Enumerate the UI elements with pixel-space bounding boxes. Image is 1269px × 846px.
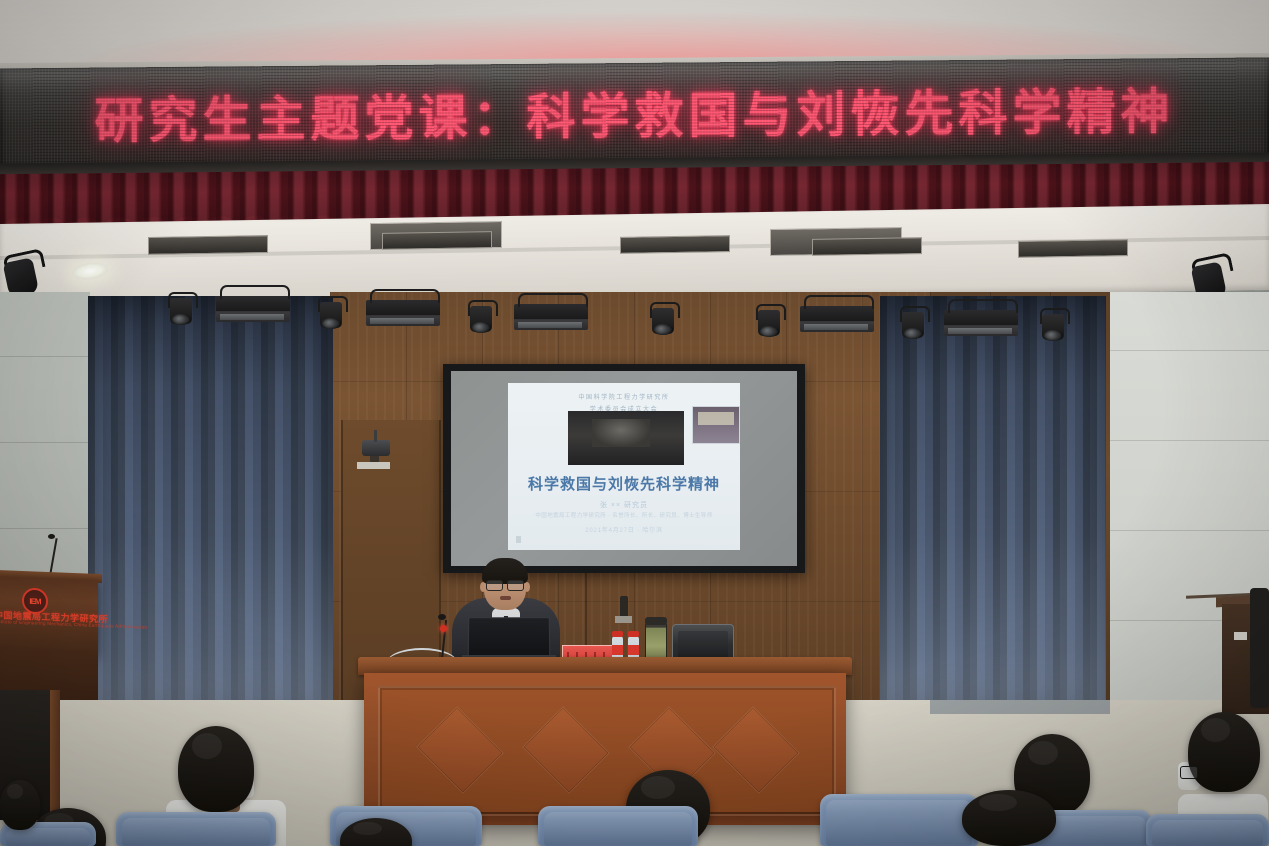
audience-chair-5[interactable]	[820, 794, 978, 846]
microphone-indicator-light	[440, 625, 447, 632]
door-plate-center	[615, 616, 632, 623]
iem-logo-text: IEM	[29, 596, 40, 605]
ceiling-speaker-1	[148, 235, 268, 255]
ceiling-speaker-4	[812, 237, 922, 256]
laptop-screen[interactable]	[468, 617, 551, 659]
ceiling-speaker-2	[382, 231, 492, 250]
desk-diamond-4	[713, 707, 798, 792]
ceiling-speaker-5	[1018, 239, 1128, 258]
par-can-light-3	[468, 300, 494, 332]
podium-microphone-head	[48, 534, 55, 539]
desk-diamond-2	[523, 707, 608, 792]
slide-group-photo	[568, 411, 684, 465]
ceiling-speaker-3	[620, 235, 730, 254]
audience-head-1	[178, 726, 254, 812]
flood-light-5	[944, 310, 1018, 336]
audience-chair-4[interactable]	[538, 806, 698, 846]
door-handle-center[interactable]	[620, 596, 628, 618]
ceiling-projector	[362, 440, 390, 456]
right-cabinet-label	[1234, 632, 1247, 640]
par-can-light-4	[650, 302, 676, 334]
par-can-light-1	[168, 292, 194, 324]
slide-corner-mark	[516, 536, 521, 543]
flood-light-4	[800, 306, 874, 332]
par-can-light-7	[1040, 308, 1066, 340]
slide-presenter: 张 ×× 研究员	[508, 500, 740, 510]
floor-curtain-hem	[930, 700, 1110, 714]
speaker-mouth	[500, 596, 511, 600]
audience-chair-1[interactable]	[116, 812, 276, 846]
door-plate-left	[357, 462, 390, 469]
left-column-wood-edge	[50, 690, 60, 820]
flood-light-2	[366, 300, 440, 326]
audience-head-8	[0, 780, 40, 830]
presentation-slide: 中国科学院工程力学研究所 学术委员会成立大会 科学救国与刘恢先科学精神 张 ××…	[508, 383, 740, 550]
presenter-desk-inner-panel	[378, 686, 836, 816]
par-can-light-6	[900, 306, 926, 338]
audience-head-7	[1188, 712, 1260, 792]
slide-inset-photo	[692, 406, 740, 444]
desk-diamond-1	[417, 707, 502, 792]
audience-chair-7[interactable]	[1146, 814, 1269, 846]
glasses-icon	[486, 580, 524, 589]
lecture-hall-photo: 研究生主题党课：科学救国与刘恢先科学精神 (function(){ var v=…	[0, 0, 1269, 846]
par-can-light-2	[318, 296, 344, 328]
par-can-light-5	[756, 304, 782, 336]
flood-light-3	[514, 304, 588, 330]
slide-title: 科学救国与刘恢先科学精神	[508, 473, 740, 494]
stage-curtain-right	[880, 296, 1106, 708]
projector-mount	[374, 430, 377, 442]
stage-curtain-left	[88, 296, 333, 712]
slide-affiliation: 中国地震局工程力学研究所 · 名誉所长、所长、研究员、博士生导师	[508, 511, 740, 519]
desk-microphone-head	[438, 614, 446, 620]
audience-glasses-icon-2	[1180, 766, 1198, 779]
led-banner-text: 研究生主题党课：科学救国与刘恢先科学精神	[0, 71, 1269, 153]
right-side-chair	[1250, 588, 1269, 708]
flood-light-1	[216, 296, 290, 322]
slide-date: 2021年4月27日 · 哈尔滨	[508, 525, 740, 534]
audience-head-6	[962, 790, 1056, 846]
slide-header-line-1: 中国科学院工程力学研究所	[508, 392, 740, 401]
